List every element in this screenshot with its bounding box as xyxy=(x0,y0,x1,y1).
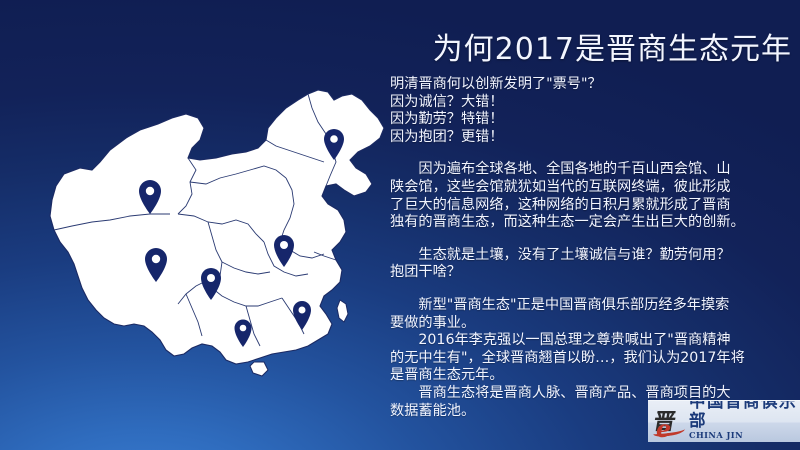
hainan-isle xyxy=(250,362,268,376)
logo-text-block: 中国晋商俱乐部 CHINA JIN MARCHANTS CLUB xyxy=(689,400,800,442)
presentation-slide: 为何2017是晋商生态元年 明清晋商何以创新发明了"票号"？ 因为诚信？大错！ … xyxy=(0,0,800,450)
logo-name-cn: 中国晋商俱乐部 xyxy=(689,400,800,430)
y2016-line-1: 的无中生有"，全球晋商翘首以盼…，我们认为2017年将 xyxy=(390,350,796,368)
club-line-0: 新型"晋商生态"正是中国晋商俱乐部历经多年摸索 xyxy=(390,297,796,315)
paragraph-club: 新型"晋商生态"正是中国晋商俱乐部历经多年摸索 要做的事业。 xyxy=(376,297,800,332)
club-logo: 晋 e 中国晋商俱乐部 CHINA JIN MARCHANTS CLUB xyxy=(648,400,800,442)
text-panel: 为何2017是晋商生态元年 明清晋商何以创新发明了"票号"？ 因为诚信？大错！ … xyxy=(376,14,800,450)
club-line-1: 要做的事业。 xyxy=(390,315,796,333)
page-title: 为何2017是晋商生态元年 xyxy=(376,30,800,70)
china-map-svg xyxy=(40,74,390,374)
paragraph-reasons: 明清晋商何以创新发明了"票号"？ 因为诚信？大错！ 因为勤劳？特错！ 因为抱团？… xyxy=(376,76,800,146)
paragraph-network: 因为遍布全球各地、全国各地的千百山西会馆、山 陕会馆，这些会馆就犹如当代的互联网… xyxy=(376,161,800,231)
logo-name-en: CHINA JIN MARCHANTS CLUB xyxy=(689,430,800,443)
soil-line-0: 生态就是土壤，没有了土壤诚信与谁？勤劳何用？ xyxy=(390,247,796,265)
soil-line-1: 抱团干啥？ xyxy=(390,264,796,282)
reason-line-2: 因为勤劳？特错！ xyxy=(390,111,796,129)
reason-line-1: 因为诚信？大错！ xyxy=(390,94,796,112)
logo-mark-icon: 晋 e xyxy=(652,405,686,439)
y2016-line-0: 2016年李克强以一国总理之尊贵喊出了"晋商精神 xyxy=(390,332,796,350)
network-line-1: 陕会馆，这些会馆就犹如当代的互联网终端，彼此形成 xyxy=(390,179,796,197)
reason-line-3: 因为抱团？更错！ xyxy=(390,129,796,147)
china-map xyxy=(40,74,390,374)
network-line-2: 了巨大的信息网络，这种网络的日积月累就形成了晋商 xyxy=(390,197,796,215)
network-line-3: 独有的晋商生态，而这种生态一定会产生出巨大的创新。 xyxy=(390,214,796,232)
y2016-line-2: 是晋商生态元年。 xyxy=(390,367,796,385)
paragraph-2016: 2016年李克强以一国总理之尊贵喊出了"晋商精神 的无中生有"，全球晋商翘首以盼… xyxy=(376,332,800,385)
taiwan-isle xyxy=(337,300,348,322)
network-line-0: 因为遍布全球各地、全国各地的千百山西会馆、山 xyxy=(390,161,796,179)
paragraph-soil: 生态就是土壤，没有了土壤诚信与谁？勤劳何用？ 抱团干啥？ xyxy=(376,247,800,282)
reason-line-0: 明清晋商何以创新发明了"票号"？ xyxy=(390,76,796,94)
